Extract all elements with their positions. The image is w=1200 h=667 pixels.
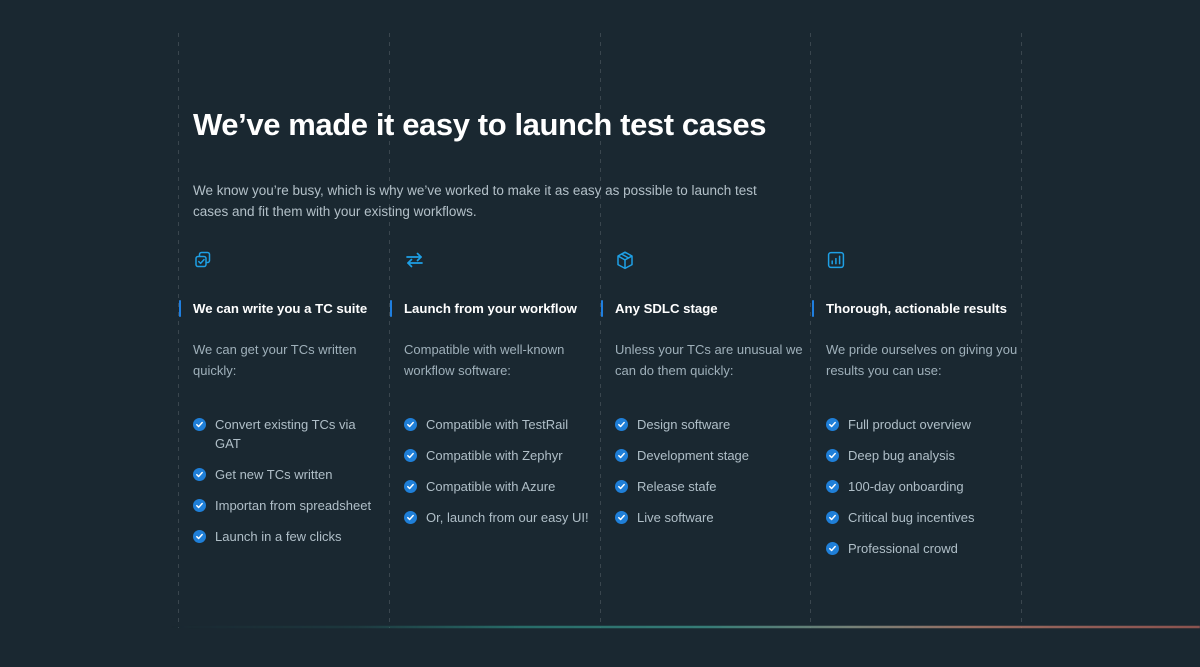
check-circle-icon [826,542,839,555]
list-item-label: Importan from spreadsheet [215,496,380,515]
list-item: 100-day onboarding [826,477,1026,496]
check-circle-icon [193,499,206,512]
list-item-label: Development stage [637,446,802,465]
feature-heading-row: We can write you a TC suite [193,300,393,320]
check-circle-icon [826,511,839,524]
list-item: Launch in a few clicks [193,527,393,546]
check-circle-icon [826,418,839,431]
list-item-label: Launch in a few clicks [215,527,380,546]
list-item: Compatible with TestRail [404,415,604,434]
list-item-label: Critical bug incentives [848,508,1013,527]
check-circle-icon [615,480,628,493]
feature-title: Any SDLC stage [615,300,815,317]
list-item-label: Full product overview [848,415,1013,434]
check-circle-icon [193,530,206,543]
feature-description: We can get your TCs written quickly: [193,339,385,381]
page-subtitle: We know you’re busy, which is why we’ve … [193,180,793,222]
feature-column-sdlc: Any SDLC stage Unless your TCs are unusu… [615,250,815,539]
feature-list: Design software Development stage Releas… [615,415,815,527]
list-item: Full product overview [826,415,1026,434]
feature-list: Compatible with TestRail Compatible with… [404,415,604,527]
cube-box-icon [615,250,815,276]
list-item-label: Compatible with TestRail [426,415,591,434]
check-circle-icon [826,449,839,462]
feature-heading-row: Any SDLC stage [615,300,815,320]
feature-heading-row: Thorough, actionable results [826,300,1026,320]
list-item-label: Release stafe [637,477,802,496]
check-circle-icon [404,511,417,524]
feature-list: Convert existing TCs via GAT Get new TCs… [193,415,393,546]
check-circle-icon [615,511,628,524]
feature-title: We can write you a TC suite [193,300,393,317]
list-item-label: Convert existing TCs via GAT [215,415,380,453]
check-circle-icon [615,449,628,462]
list-item: Convert existing TCs via GAT [193,415,393,453]
list-item-label: Compatible with Zephyr [426,446,591,465]
column-divider-rail [178,33,179,628]
list-item: Or, launch from our easy UI! [404,508,604,527]
feature-description: We pride ourselves on giving you results… [826,339,1018,381]
list-item: Compatible with Azure [404,477,604,496]
check-circle-icon [404,480,417,493]
list-item: Development stage [615,446,815,465]
list-item-label: Live software [637,508,802,527]
bar-chart-icon [826,250,1026,276]
feature-description: Compatible with well-known workflow soft… [404,339,596,381]
feature-title: Thorough, actionable results [826,300,1026,317]
check-circle-icon [826,480,839,493]
feature-column-workflow: Launch from your workflow Compatible wit… [404,250,604,539]
feature-heading-row: Launch from your workflow [404,300,604,320]
feature-description: Unless your TCs are unusual we can do th… [615,339,807,381]
list-item-label: Compatible with Azure [426,477,591,496]
list-item: Compatible with Zephyr [404,446,604,465]
list-item: Live software [615,508,815,527]
list-item: Professional crowd [826,539,1026,558]
check-circle-icon [404,418,417,431]
list-item: Deep bug analysis [826,446,1026,465]
list-item: Get new TCs written [193,465,393,484]
list-item: Design software [615,415,815,434]
accent-bar [601,300,603,317]
feature-column-tc-suite: We can write you a TC suite We can get y… [193,250,393,558]
list-item-label: 100-day onboarding [848,477,1013,496]
bottom-gradient-accent [170,626,1200,628]
list-item-label: Professional crowd [848,539,1013,558]
accent-bar [390,300,392,317]
feature-column-results: Thorough, actionable results We pride ou… [826,250,1026,570]
feature-title: Launch from your workflow [404,300,604,317]
swap-arrows-icon [404,250,604,276]
check-circle-icon [193,468,206,481]
list-item-label: Or, launch from our easy UI! [426,508,591,527]
check-circle-icon [404,449,417,462]
accent-bar [179,300,181,317]
check-circle-icon [615,418,628,431]
page-title: We’ve made it easy to launch test cases [193,107,766,143]
copy-duplicate-icon [193,250,393,276]
list-item: Release stafe [615,477,815,496]
list-item-label: Get new TCs written [215,465,380,484]
list-item-label: Deep bug analysis [848,446,1013,465]
list-item: Critical bug incentives [826,508,1026,527]
list-item: Importan from spreadsheet [193,496,393,515]
list-item-label: Design software [637,415,802,434]
feature-section: We’ve made it easy to launch test cases … [0,0,1200,667]
feature-list: Full product overview Deep bug analysis … [826,415,1026,558]
check-circle-icon [193,418,206,431]
accent-bar [812,300,814,317]
